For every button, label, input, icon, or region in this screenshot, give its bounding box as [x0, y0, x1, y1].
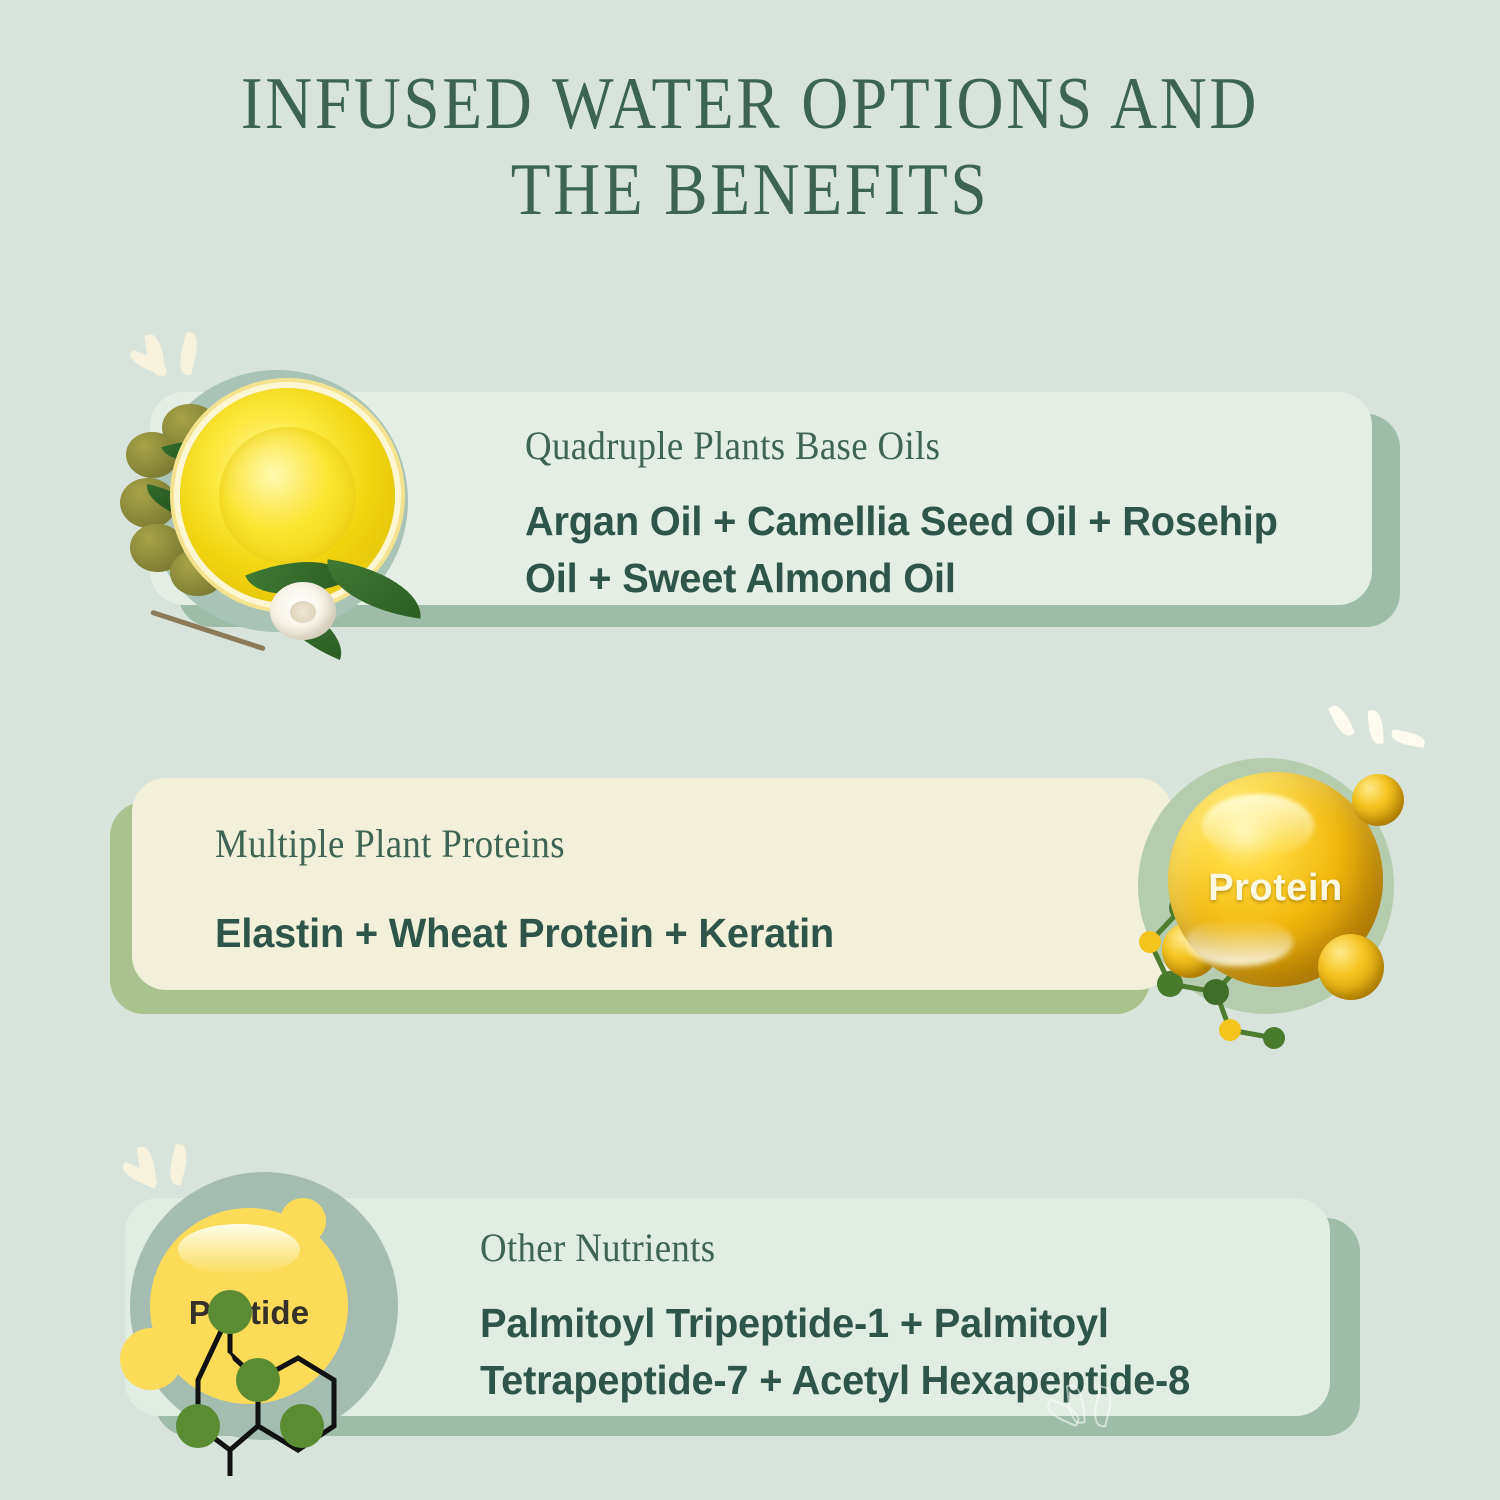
card-kicker: Multiple Plant Proteins	[215, 820, 1075, 867]
card-content: Other Nutrients Palmitoyl Tripeptide-1 +…	[480, 1224, 1330, 1408]
sparkle-burst-protein	[1338, 696, 1434, 762]
protein-sphere-image: Protein	[1110, 730, 1440, 1050]
sparkle-burst-top-left	[118, 322, 208, 384]
camellia-flower-icon	[270, 582, 336, 640]
card-kicker: Other Nutrients	[480, 1224, 1262, 1271]
sparkle-burst-ghost-bottom	[1040, 1378, 1120, 1434]
card-multiple-plant-proteins: Multiple Plant Proteins Elastin + Wheat …	[110, 778, 1190, 1036]
card-kicker: Quadruple Plants Base Oils	[525, 422, 1293, 469]
card-body: Argan Oil + Camellia Seed Oil + Rosehip …	[525, 493, 1335, 606]
small-sphere-icon	[1352, 774, 1404, 826]
card-content: Quadruple Plants Base Oils Argan Oil + C…	[525, 422, 1360, 606]
small-sphere-icon	[1318, 934, 1384, 1000]
infographic-canvas: INFUSED WATER OPTIONS AND THE BENEFITS Q…	[0, 0, 1500, 1500]
molecule-diagram	[112, 1158, 442, 1478]
olive-oil-bowl-image	[118, 360, 418, 660]
card-content: Multiple Plant Proteins Elastin + Wheat …	[215, 820, 1150, 962]
card-body: Palmitoyl Tripeptide-1 + Palmitoyl Tetra…	[480, 1295, 1305, 1408]
protein-label: Protein	[1168, 867, 1383, 910]
page-title: INFUSED WATER OPTIONS AND THE BENEFITS	[90, 62, 1410, 234]
card-body: Elastin + Wheat Protein + Keratin	[215, 905, 1122, 962]
peptide-sphere-image: Peptide	[112, 1158, 442, 1478]
sparkle-burst-peptide	[112, 1136, 202, 1198]
